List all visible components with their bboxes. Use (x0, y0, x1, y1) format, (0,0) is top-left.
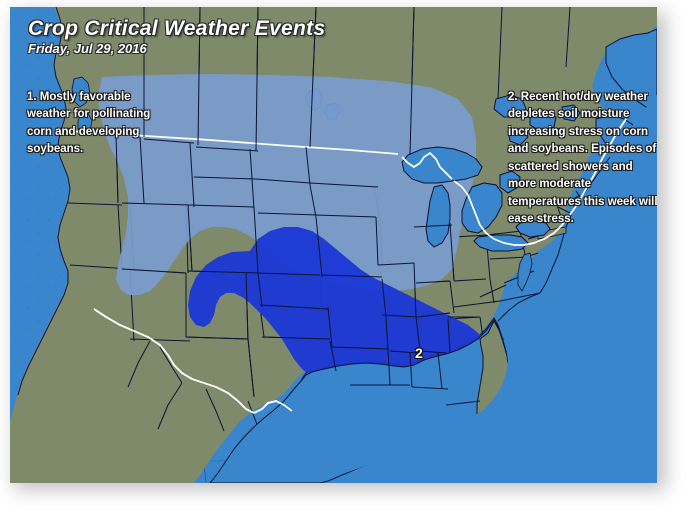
map-label-2: 2 (415, 345, 423, 361)
map-date-subtitle: Friday, Jul 29, 2016 (28, 42, 325, 56)
annotation-1-text: 1. Mostly favorable weather for pollinat… (27, 89, 177, 159)
page-title: Crop Critical Weather Events (28, 18, 325, 40)
title-block: Crop Critical Weather Events Friday, Jul… (28, 18, 325, 56)
ocean-mask-overlay (10, 7, 657, 483)
state-boundary-overlay (116, 7, 480, 397)
weather-map-panel[interactable]: Crop Critical Weather Events Friday, Jul… (10, 7, 657, 483)
screenshot-root: Crop Critical Weather Events Friday, Jul… (0, 0, 692, 512)
annotation-2-text: 2. Recent hot/dry weather depletes soil … (508, 89, 657, 229)
chesapeake-bay (518, 253, 532, 291)
